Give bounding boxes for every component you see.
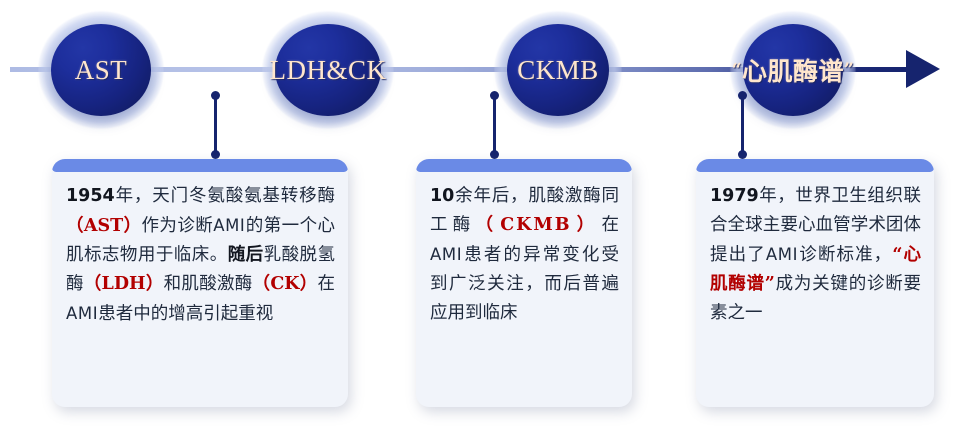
connector-dot-bottom	[490, 150, 499, 159]
timeline-node-label: CKMB	[517, 55, 599, 86]
timeline-node-label: “心肌酶谱”	[732, 52, 855, 88]
card-highlight-ldh: （LDH）	[84, 274, 164, 294]
connector-dot-bottom	[738, 150, 747, 159]
card-text-segment: 作为诊断	[142, 216, 214, 236]
card-text-ami: AMI	[430, 245, 462, 264]
card-highlight-ckmb: （CKMB）	[475, 215, 601, 235]
connector-dot-bottom	[211, 150, 220, 159]
info-card-1954[interactable]: 1954年，天门冬氨酸氨基转移酶（AST）作为诊断AMI的第一个心肌标志物用于临…	[52, 159, 348, 407]
card-text-emphasis: 随后	[228, 245, 264, 265]
card-body-text: 1954年，天门冬氨酸氨基转移酶（AST）作为诊断AMI的第一个心肌标志物用于临…	[52, 172, 348, 339]
card-accent-bar	[52, 159, 348, 172]
card-text-ami: AMI	[66, 304, 98, 323]
card-highlight-ck: （CK）	[253, 274, 318, 294]
card-text-segment: 在	[318, 274, 336, 294]
connector-stem	[493, 95, 496, 155]
card-accent-bar	[696, 159, 934, 172]
connector-stem	[741, 95, 744, 155]
info-card-1979[interactable]: 1979年，世界卫生组织联合全球主要心血管学术团体提出了AMI诊断标准，“心肌酶…	[696, 159, 934, 407]
connector-card-3	[738, 91, 748, 159]
timeline-node-ldhck[interactable]: LDH&CK	[262, 11, 394, 129]
card-year: 10	[430, 186, 454, 206]
open-quote: “	[732, 60, 742, 80]
connector-dot-top	[490, 91, 499, 100]
card-text-segment: 诊断标准，	[798, 245, 892, 265]
timeline-arrow-icon	[906, 50, 940, 88]
connector-card-2	[490, 91, 500, 159]
connector-stem	[214, 95, 217, 155]
timeline-node-label: AST	[75, 55, 128, 86]
timeline-node-label: LDH&CK	[270, 55, 387, 86]
timeline-node-cardiac-enzyme-panel[interactable]: “心肌酶谱”	[730, 11, 856, 129]
card-accent-bar	[416, 159, 632, 172]
card-highlight-ast: （AST）	[66, 216, 142, 236]
card-body-text: 1979年，世界卫生组织联合全球主要心血管学术团体提出了AMI诊断标准，“心肌酶…	[696, 172, 934, 338]
connector-card-1	[211, 91, 221, 159]
close-quote: ”	[844, 60, 854, 80]
connector-dot-top	[211, 91, 220, 100]
card-text-ami: AMI	[766, 245, 798, 264]
card-text-ami: AMI	[213, 216, 245, 235]
info-card-ckmb[interactable]: 10余年后，肌酸激酶同工酶（CKMB）在AMI患者的异常变化受到广泛关注，而后普…	[416, 159, 632, 407]
connector-dot-top	[738, 91, 747, 100]
timeline-node-ast[interactable]: AST	[38, 11, 164, 129]
timeline-node-ckmb[interactable]: CKMB	[494, 11, 622, 129]
card-text-segment: 在	[602, 215, 620, 235]
timeline-diagram: AST LDH&CK CKMB “心肌酶谱”	[0, 0, 958, 427]
node-label-text: 心肌酶谱	[742, 57, 844, 86]
card-text-segment: 和肌酸激酶	[164, 274, 253, 294]
card-year: 1979	[710, 186, 759, 206]
card-text-segment: 年，天门冬氨酸氨基转移酶	[115, 186, 335, 206]
card-year: 1954	[66, 186, 115, 206]
card-body-text: 10余年后，肌酸激酶同工酶（CKMB）在AMI患者的异常变化受到广泛关注，而后普…	[416, 172, 632, 338]
card-text-segment: 患者中的增高引起重视	[98, 304, 273, 324]
